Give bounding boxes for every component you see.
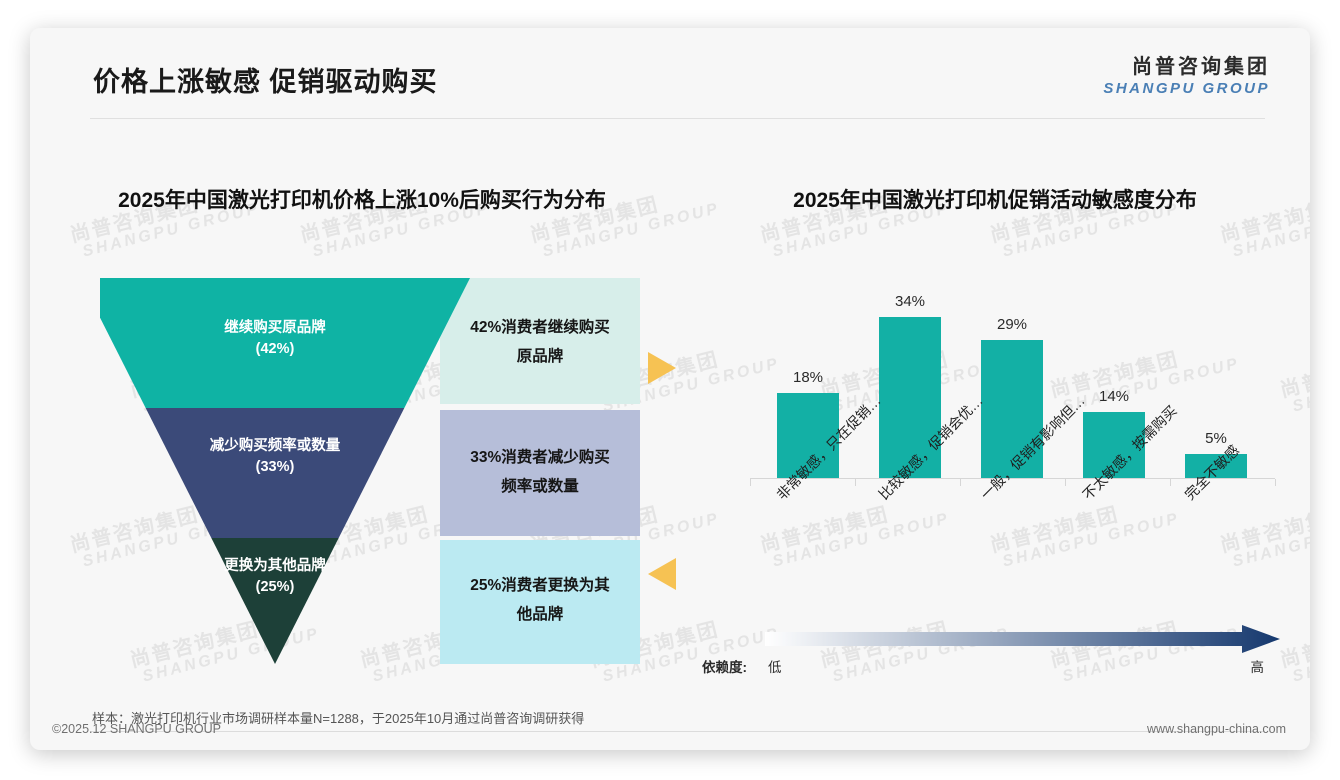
side-text-line-1: 42%消费者继续购买 xyxy=(470,314,610,343)
page-title: 价格上涨敏感 促销驱动购买 xyxy=(93,60,438,99)
legend-low-label: 低 xyxy=(768,656,782,676)
x-axis-tick xyxy=(960,479,961,486)
side-text-line-2: 频率或数量 xyxy=(470,473,610,502)
right-chart-title: 2025年中国激光打印机促销活动敏感度分布 xyxy=(710,186,1280,216)
legend-caption: 依赖度: xyxy=(702,656,747,676)
x-axis-tick xyxy=(855,479,856,486)
funnel-segment xyxy=(211,538,338,664)
side-text-line-1: 25%消费者更换为其 xyxy=(470,572,610,601)
bar-value-label: 18% xyxy=(793,369,823,386)
dependency-gradient-legend: 依赖度: 低 高 xyxy=(702,624,1292,682)
x-axis-tick xyxy=(1170,479,1171,486)
funnel-side-text: 33%消费者减少购买频率或数量 xyxy=(440,408,640,538)
copyright-text: ©2025.12 SHANGPU GROUP xyxy=(52,722,221,736)
logo-english-text: SHANGPU GROUP xyxy=(1103,80,1270,97)
funnel-side-text: 25%消费者更换为其他品牌 xyxy=(440,538,640,664)
x-axis-tick xyxy=(1275,479,1276,486)
slide-card: 尚普咨询集团SHANGPU GROUP尚普咨询集团SHANGPU GROUP尚普… xyxy=(30,28,1310,750)
bar-value-label: 34% xyxy=(895,293,925,310)
bar-value-label: 14% xyxy=(1099,388,1129,405)
gradient-arrow-icon xyxy=(702,624,1292,656)
funnel-segment xyxy=(146,408,405,538)
arrow-right-icon xyxy=(646,350,680,393)
slide-header: 价格上涨敏感 促销驱动购买 尚普咨询集团 SHANGPU GROUP xyxy=(30,28,1310,120)
side-text-line-2: 他品牌 xyxy=(470,601,610,630)
funnel-chart: 继续购买原品牌(42%)减少购买频率或数量(33%)更换为其他品牌(25%)42… xyxy=(100,278,660,668)
legend-high-label: 高 xyxy=(1251,656,1265,676)
slide-footer: ©2025.12 SHANGPU GROUP www.shangpu-china… xyxy=(30,714,1310,750)
arrow-left-icon xyxy=(646,556,680,599)
funnel-segment xyxy=(100,278,470,408)
logo-chinese-text: 尚普咨询集团 xyxy=(1103,50,1270,79)
x-axis-tick xyxy=(750,479,751,486)
side-text-line-2: 原品牌 xyxy=(470,343,610,372)
header-divider xyxy=(90,118,1265,119)
x-axis-tick xyxy=(1065,479,1066,486)
sensitivity-bar-chart: 18%34%29%14%5% 非常敏感，只在促销…比较敏感，促销会优…一般，促销… xyxy=(702,278,1292,638)
side-text-line-1: 33%消费者减少购买 xyxy=(470,444,610,473)
brand-logo: 尚普咨询集团 SHANGPU GROUP xyxy=(1103,50,1270,97)
website-link[interactable]: www.shangpu-china.com xyxy=(1147,722,1286,736)
left-chart-title: 2025年中国激光打印机价格上涨10%后购买行为分布 xyxy=(72,186,652,216)
bar-value-label: 29% xyxy=(997,316,1027,333)
funnel-side-text: 42%消费者继续购买原品牌 xyxy=(440,278,640,408)
